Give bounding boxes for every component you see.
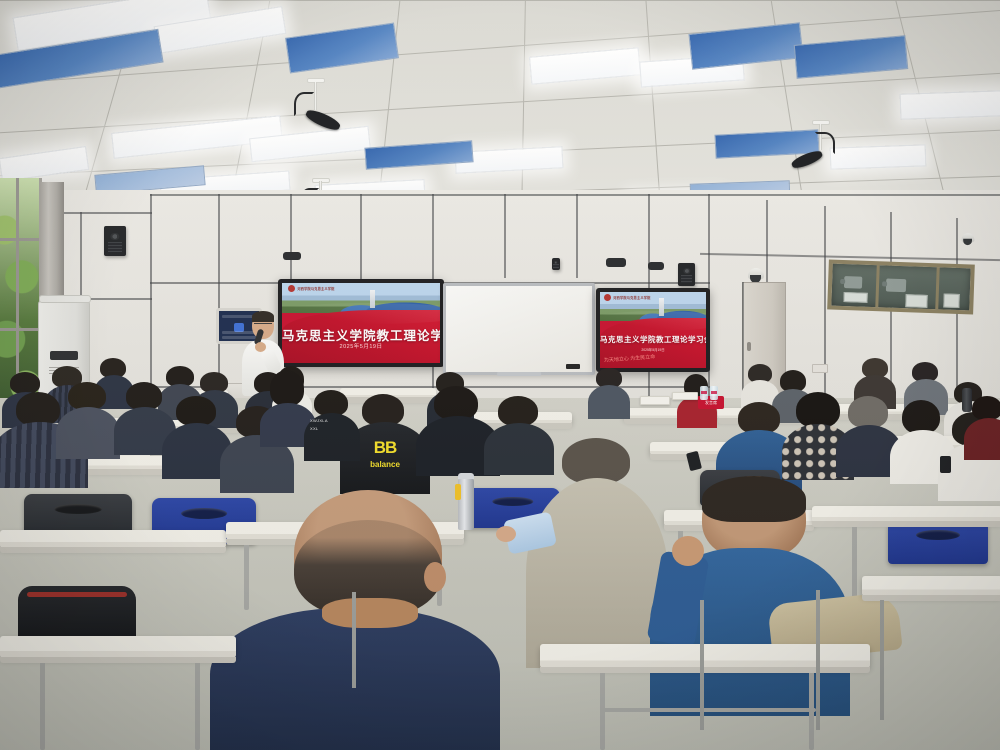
presenter-hand [255,342,266,352]
presenter-glasses [254,323,272,327]
chair-leg [352,592,356,688]
projection-booth-window [827,259,975,314]
slide-school-logo: 河西学院马克思主义学院 [604,294,650,301]
man-blue-tshirt [650,476,850,716]
side-slide: 河西学院马克思主义学院 马克思主义学院教工理论学习会 2025年5月19日 为天… [600,292,706,368]
chair-leg [880,600,884,720]
ceiling-blue-panel [285,23,399,74]
projector-mount [606,258,626,267]
student-desk [0,530,226,548]
slide-school-logo: 河西学院马克思主义学院 [288,285,334,292]
jacket-logo-subtext: balance [370,460,400,469]
dome-camera [962,233,975,242]
student-desk [540,644,870,668]
water-bottle-pair [710,386,718,400]
projector-mount [283,252,301,260]
secondary-display-screen[interactable]: 河西学院马克思主义学院 马克思主义学院教工理论学习会 2025年5月19日 为天… [596,288,710,372]
whiteboard-eraser[interactable] [566,364,580,369]
classroom-photo: 河西学院马克思主义学院 马克思主义学院教工理论学习会 2025年5月19日 河西… [0,0,1000,750]
ceiling-light-panel [830,144,927,169]
wall-speaker [678,263,695,286]
slide-title: 马克思主义学院教工理论学习会 [282,325,440,344]
ac-display [50,351,78,360]
black-water-bottle [962,388,972,412]
school-emblem-icon [288,285,295,292]
ceiling-blue-panel [794,35,909,79]
slide-date: 2025年5月19日 [600,347,706,352]
chair-leg [816,590,820,730]
ceiling-light-panel [529,47,641,84]
jacket-logo: BB [374,438,397,458]
paper-stack [672,392,698,400]
student-desk [0,636,236,658]
projector-in-booth [844,276,862,289]
wall-speaker [552,258,560,270]
paper-stack [640,396,670,405]
wall-socket-plate [812,364,828,373]
projector-mount [648,262,664,270]
main-slide: 河西学院马克思主义学院 马克思主义学院教工理论学习会 2025年5月19日 [282,283,440,363]
ceiling-blue-panel [688,22,803,70]
slide-title: 马克思主义学院教工理论学习会 [600,334,706,345]
main-presentation-screen[interactable]: 河西学院马克思主义学院 马克思主义学院教工理论学习会 2025年5月19日 [278,279,444,367]
ceiling-light-panel [0,146,89,182]
ceiling-light-panel [900,90,1000,120]
presenter-hair [252,311,274,322]
student-desk [862,576,1000,596]
school-emblem-icon [604,294,611,301]
projector-in-booth [886,278,906,292]
whiteboard[interactable] [443,283,595,375]
smartphone[interactable] [940,456,951,473]
slide-logo-text: 河西学院马克思主义学院 [613,295,650,300]
chair-leg [700,600,704,730]
slide-logo-text: 河西学院马克思主义学院 [297,286,334,291]
water-bottle-pair [700,386,708,400]
wall-speaker [104,226,126,256]
dome-camera [748,268,764,279]
slide-date: 2025年5月19日 [282,342,440,350]
